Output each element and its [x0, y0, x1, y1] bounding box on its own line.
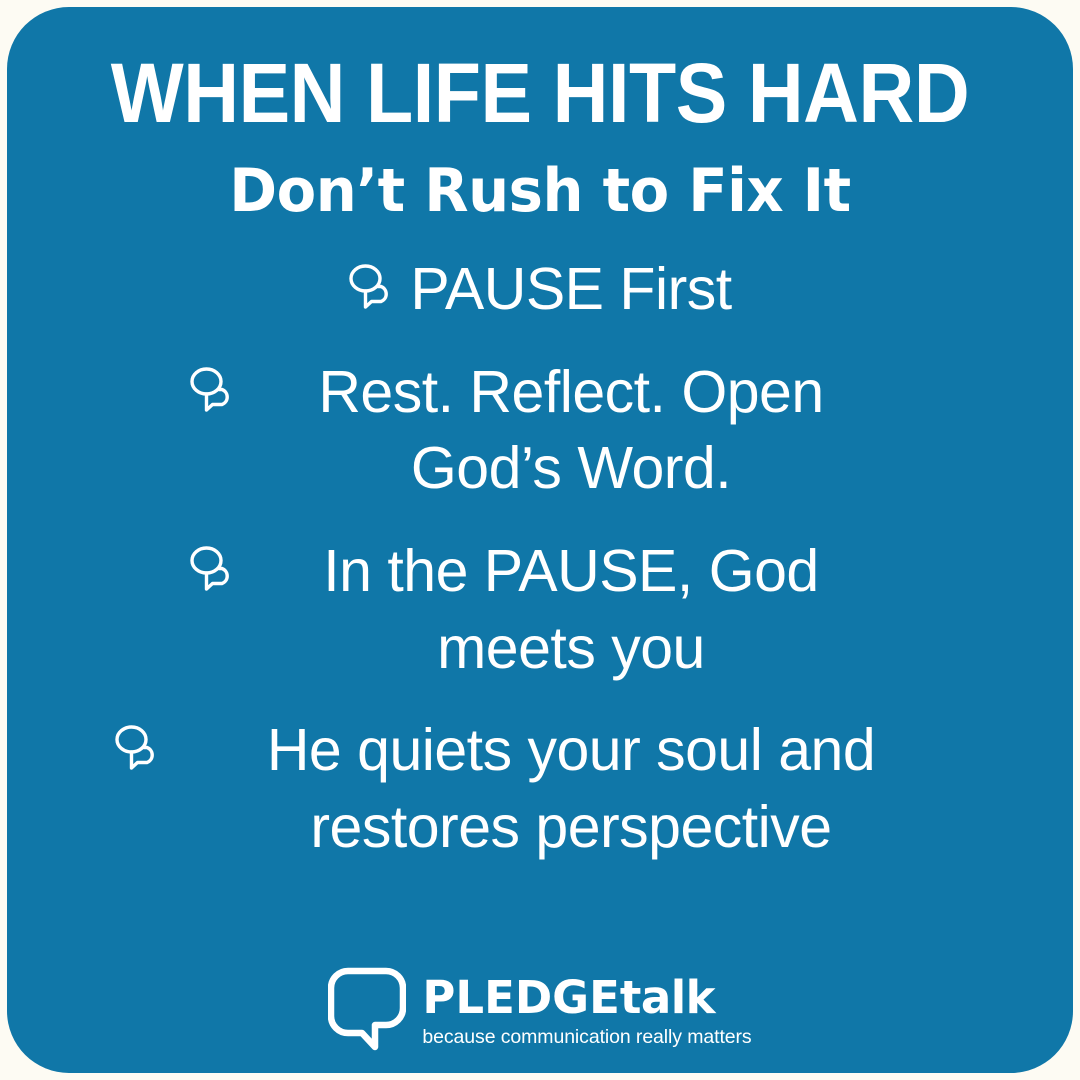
page-subtitle: Don’t Rush to Fix It: [28, 161, 1051, 221]
brand-name-primary: PLEDGE: [422, 975, 619, 1020]
list-item-label: PAUSE First: [410, 251, 731, 328]
list-item-label: In the PAUSE, God meets you: [251, 533, 891, 686]
brand-name-secondary: talk: [620, 975, 715, 1020]
speech-bubble-p-icon: [189, 366, 229, 412]
poster-card: WHEN LIFE HITS HARD Don’t Rush to Fix It…: [7, 7, 1073, 1073]
list-item: PAUSE First: [35, 251, 1045, 328]
brand-wordmark: PLEDGE talk: [422, 975, 715, 1020]
brand-logo: PLEDGE talk because communication really…: [7, 963, 1073, 1055]
list-item-label: He quiets your soul and restores perspec…: [176, 712, 966, 865]
bullet-list: PAUSE First Rest. Reflect. Open God’s Wo…: [35, 251, 1045, 892]
list-item: Rest. Reflect. Open God’s Word.: [35, 354, 1045, 507]
speech-bubble-p-icon: [189, 545, 229, 591]
brand-tagline: because communication really matters: [422, 1026, 751, 1049]
list-item: In the PAUSE, God meets you: [35, 533, 1045, 686]
list-item: He quiets your soul and restores perspec…: [35, 712, 1045, 865]
poster-canvas: WHEN LIFE HITS HARD Don’t Rush to Fix It…: [0, 0, 1080, 1080]
list-item-label: Rest. Reflect. Open God’s Word.: [251, 354, 891, 507]
page-title: WHEN LIFE HITS HARD: [50, 51, 1031, 135]
speech-bubble-p-icon: [114, 724, 154, 770]
speech-bubble-p-icon: [348, 263, 388, 309]
speech-bubble-logo-icon: [328, 963, 406, 1055]
brand-wordmark-block: PLEDGE talk because communication really…: [422, 969, 751, 1049]
